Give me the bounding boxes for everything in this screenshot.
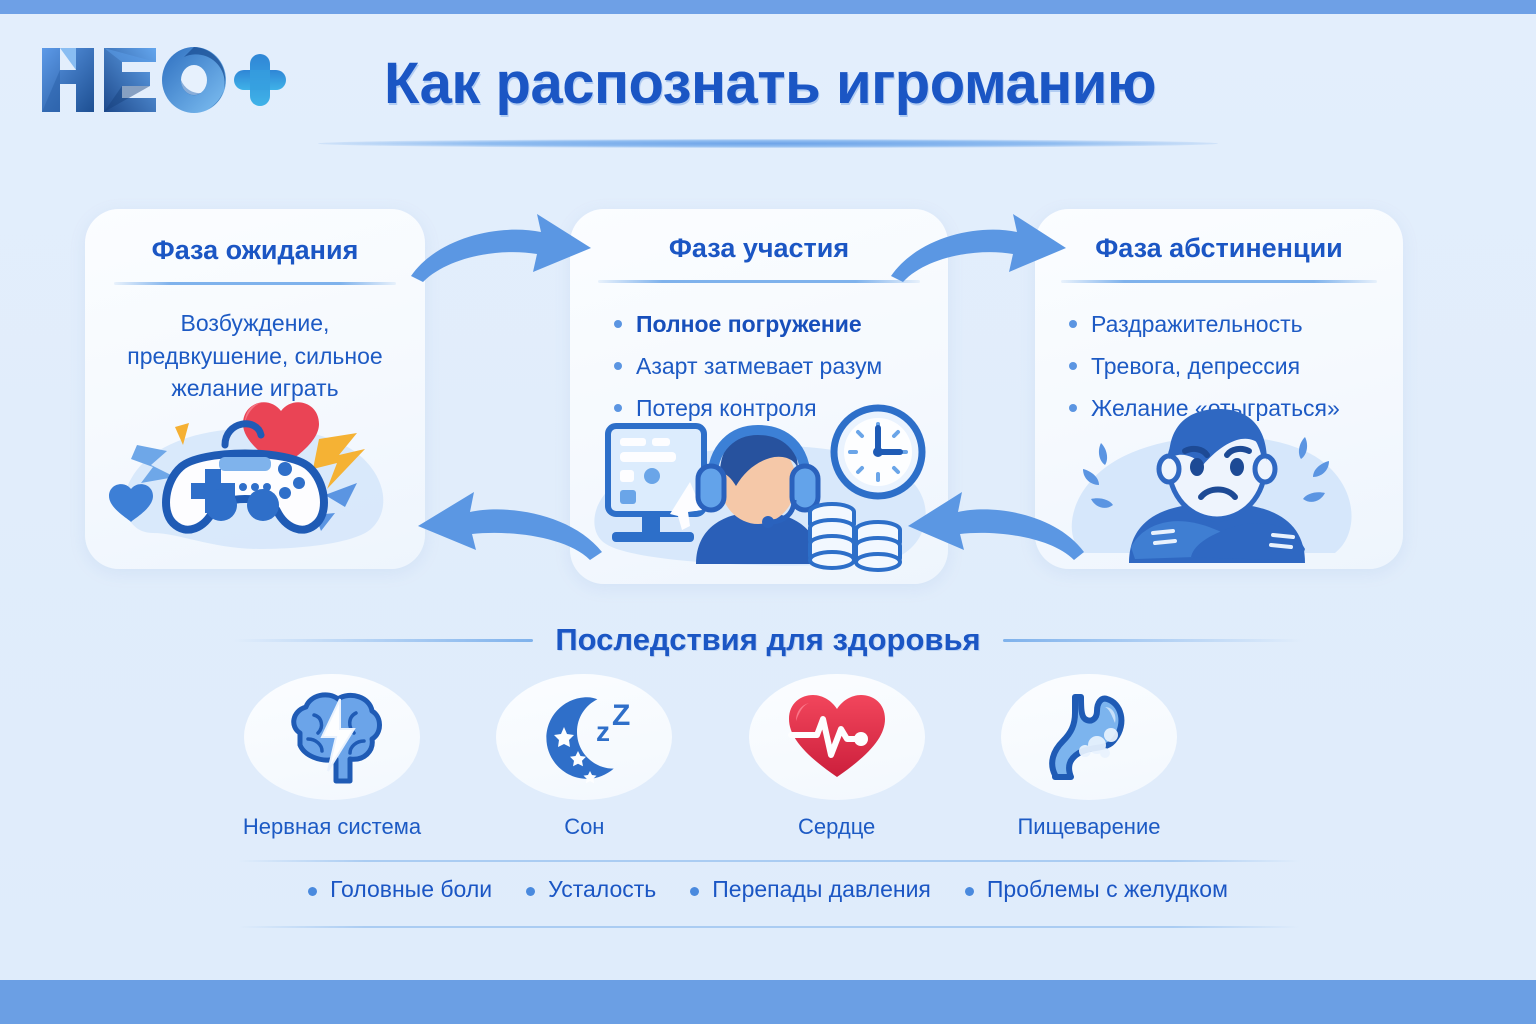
section-divider-left — [233, 639, 533, 642]
list-item: Азарт затмевает разум — [610, 345, 948, 387]
health-icon-row: Нервная система z Z Сон — [228, 674, 1193, 852]
title-divider — [318, 139, 1218, 148]
symptoms-divider-top — [238, 860, 1300, 862]
consequences-header: Последствия для здоровья — [0, 622, 1536, 658]
phase-title-divider — [114, 282, 396, 285]
symptoms-divider-bottom — [238, 926, 1300, 928]
neo-plus-logo-icon — [38, 40, 288, 122]
symptom-item: Головные боли — [308, 876, 492, 903]
arrow-right-participation-to-withdrawal — [885, 210, 1070, 288]
phase-title: Фаза ожидания — [85, 235, 425, 266]
stomach-icon — [1001, 674, 1177, 800]
phase-card-withdrawal[interactable]: Фаза абстиненции Раздражительность Трево… — [1035, 209, 1403, 569]
infographic-canvas: Как распознать игроманию Фаза ожидания В… — [0, 0, 1536, 1024]
svg-text:Z: Z — [612, 699, 630, 732]
arrow-left-participation-to-anticipation — [408, 486, 608, 564]
moon-zzz-icon: z Z — [496, 674, 672, 800]
phase-title-divider — [1061, 280, 1377, 283]
section-divider-right — [1003, 639, 1303, 642]
health-label: Пищеварение — [1017, 814, 1160, 840]
svg-text:z: z — [596, 716, 610, 747]
phase-card-anticipation[interactable]: Фаза ожидания Возбуждение, предвкушение,… — [85, 209, 425, 569]
health-label: Нервная система — [243, 814, 421, 840]
sad-person-icon — [1057, 403, 1387, 569]
gamer-headset-clock-coins-icon — [578, 404, 946, 584]
gamepad-heart-icon — [93, 383, 425, 569]
health-item-heart[interactable]: Сердце — [733, 674, 941, 852]
phase-title: Фаза абстиненции — [1035, 233, 1403, 264]
health-item-sleep[interactable]: z Z Сон — [480, 674, 688, 852]
symptom-item: Усталость — [526, 876, 656, 903]
symptoms-row: Головные боли Усталость Перепады давлени… — [0, 876, 1536, 903]
symptom-item: Проблемы с желудком — [965, 876, 1228, 903]
phase-title-divider — [598, 280, 920, 283]
brain-lightning-icon — [244, 674, 420, 800]
health-label: Сердце — [798, 814, 875, 840]
consequences-title: Последствия для здоровья — [555, 622, 980, 658]
header: Как распознать игроманию — [0, 14, 1536, 164]
health-label: Сон — [564, 814, 604, 840]
list-item: Раздражительность — [1065, 303, 1403, 345]
health-item-nervous-system[interactable]: Нервная система — [228, 674, 436, 852]
list-item: Полное погружение — [610, 303, 948, 345]
arrow-right-anticipation-to-participation — [405, 210, 595, 288]
list-item: Тревога, депрессия — [1065, 345, 1403, 387]
arrow-left-withdrawal-to-participation — [900, 486, 1090, 564]
heart-pulse-icon — [749, 674, 925, 800]
page-title: Как распознать игроманию — [340, 50, 1200, 117]
health-item-digestion[interactable]: Пищеварение — [985, 674, 1193, 852]
brand-logo — [38, 40, 288, 122]
symptom-item: Перепады давления — [690, 876, 931, 903]
